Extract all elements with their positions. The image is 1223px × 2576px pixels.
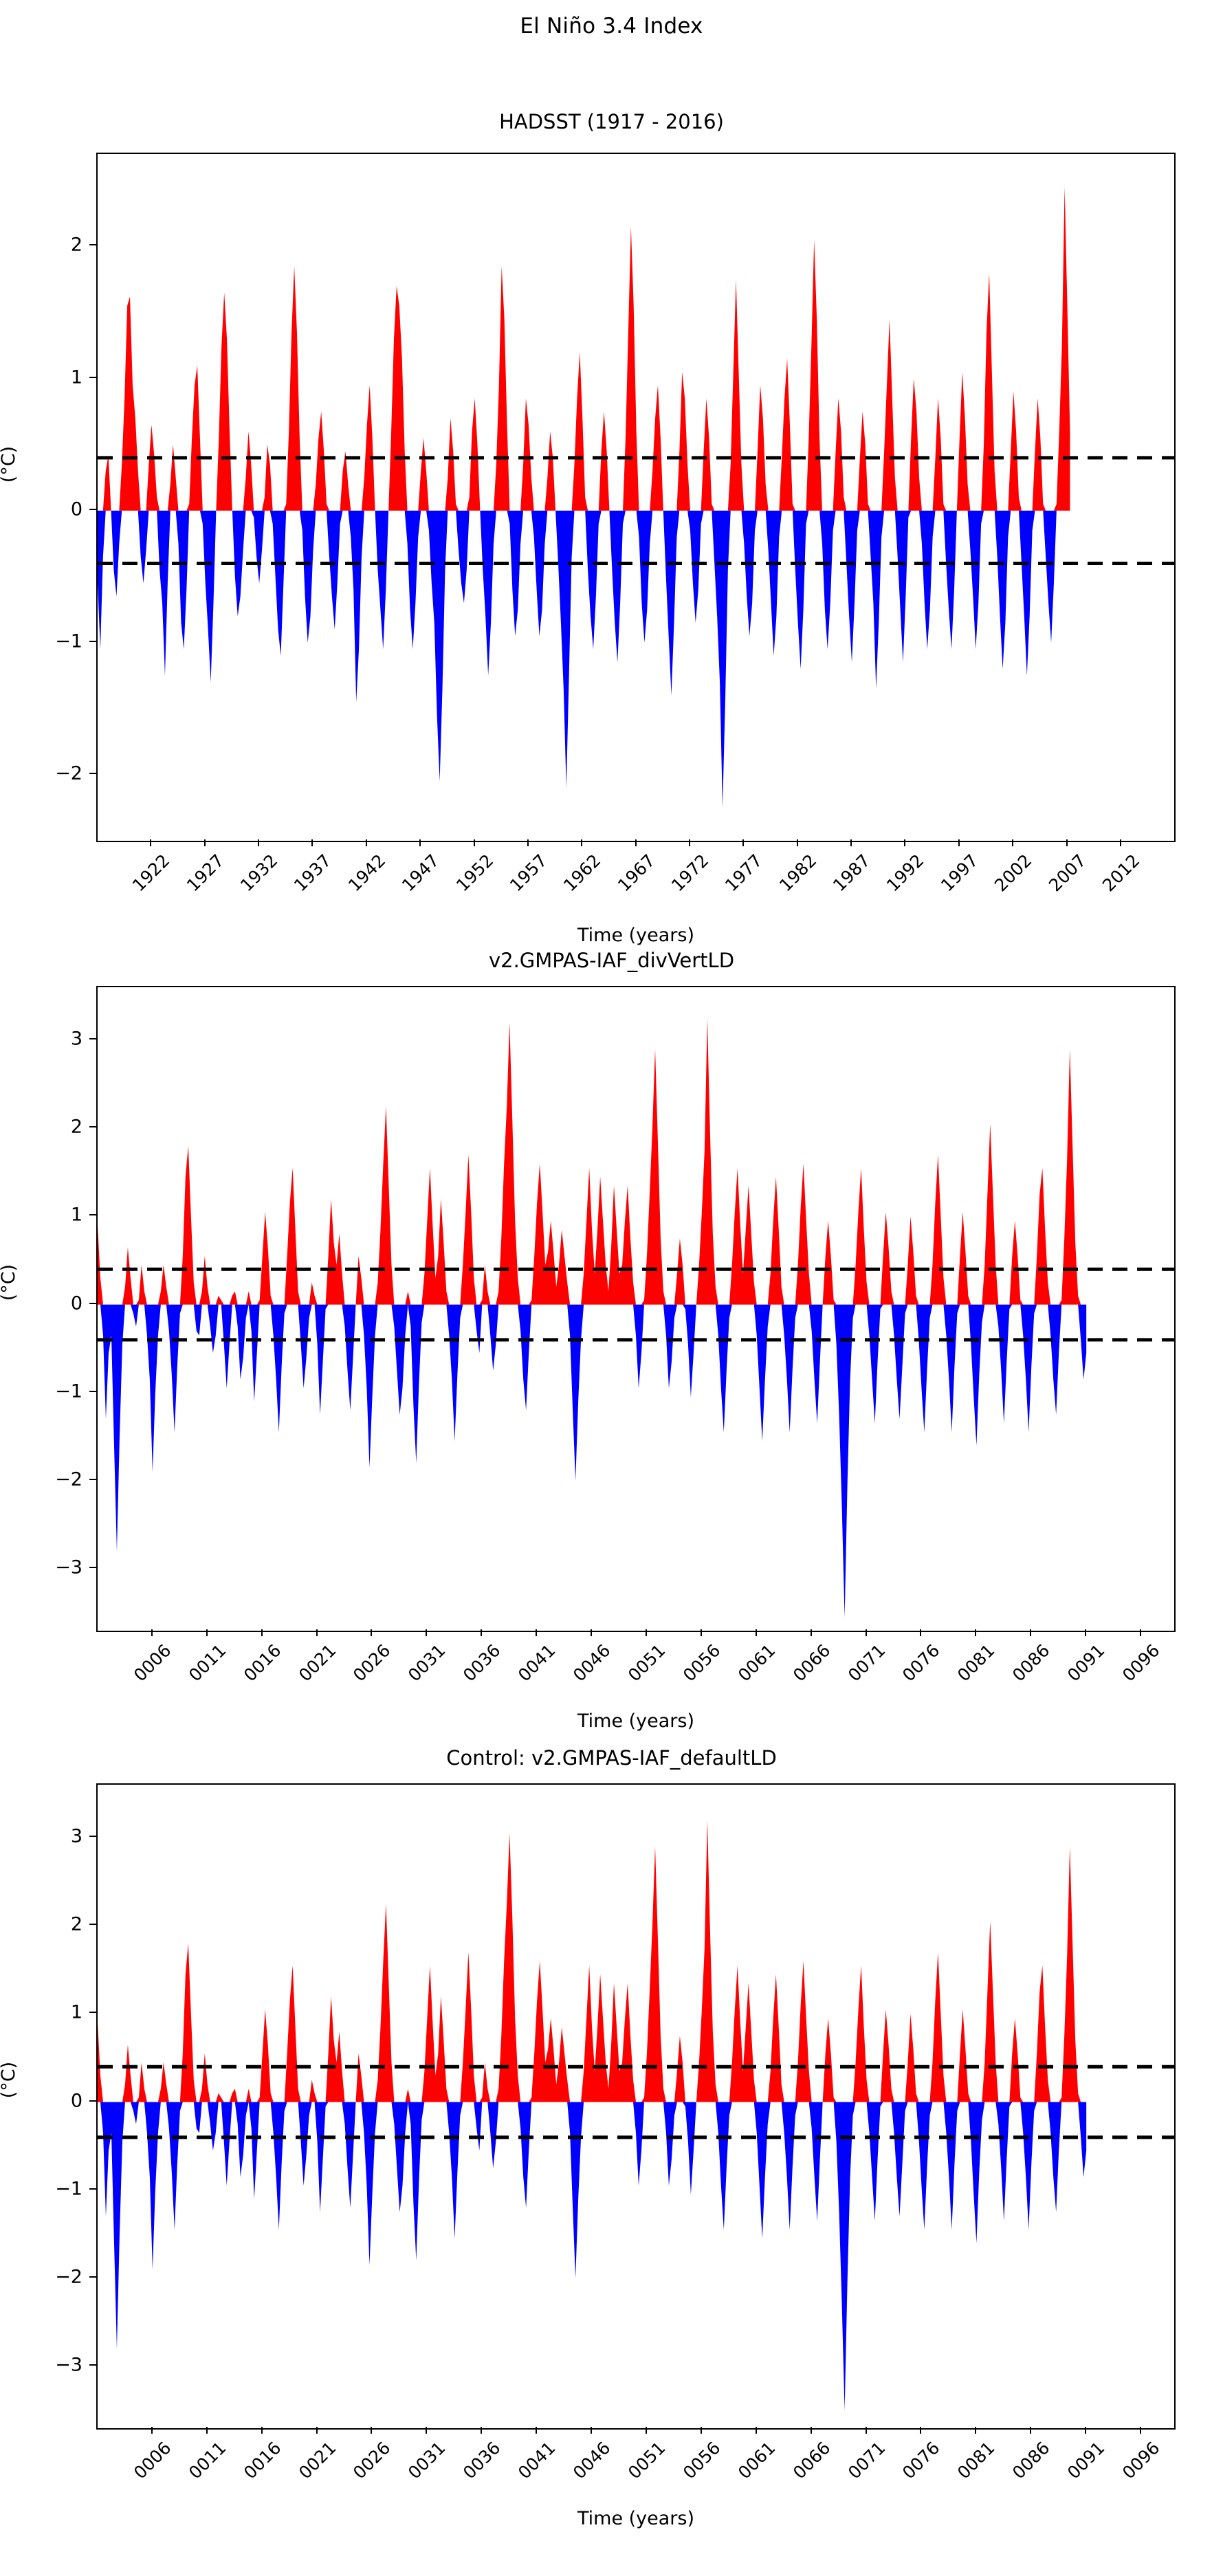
- x-tick-label: 0051: [624, 1640, 669, 1685]
- y-tick-label: 3: [21, 1028, 82, 1049]
- y-axis-label: (°C): [0, 1264, 19, 1301]
- y-tick-mark: [89, 2364, 96, 2366]
- x-tick-label: 1987: [829, 850, 874, 895]
- x-tick-mark: [1140, 1629, 1141, 1636]
- y-tick-label: 0: [21, 498, 82, 520]
- y-tick-label: −1: [21, 630, 82, 652]
- x-tick-label: 1982: [775, 850, 820, 895]
- x-tick-label: 1962: [560, 850, 604, 895]
- x-tick-label: 0081: [954, 1640, 998, 1685]
- x-axis-label: Time (years): [96, 925, 1176, 946]
- y-tick-mark: [89, 773, 96, 774]
- x-tick-label: 0011: [185, 1640, 230, 1685]
- x-tick-mark: [206, 2427, 208, 2434]
- x-tick-mark: [646, 1629, 647, 1636]
- x-tick-mark: [1030, 2427, 1031, 2434]
- chart-panel-hadsst: HADSST (1917 - 2016) (°C) Time (years) −…: [0, 110, 1223, 949]
- y-tick-label: −3: [21, 2355, 82, 2376]
- y-tick-mark: [89, 1303, 96, 1304]
- y-tick-mark: [89, 1038, 96, 1039]
- x-tick-label: 0086: [1009, 2438, 1053, 2483]
- x-tick-label: 0031: [404, 2438, 449, 2483]
- y-tick-mark: [89, 509, 96, 510]
- x-tick-label: 0021: [295, 1640, 340, 1685]
- x-tick-label: 0091: [1064, 2438, 1108, 2483]
- x-tick-mark: [975, 2427, 976, 2434]
- y-tick-mark: [89, 244, 96, 245]
- x-tick-label: 0036: [459, 2438, 504, 2483]
- x-tick-mark: [958, 839, 960, 846]
- x-tick-mark: [742, 839, 744, 846]
- y-tick-mark: [89, 1924, 96, 1925]
- x-tick-label: 0016: [240, 2438, 285, 2483]
- x-tick-label: 0076: [899, 2438, 943, 2483]
- y-axis-label: (°C): [0, 446, 19, 483]
- x-axis-label: Time (years): [96, 1710, 1176, 1732]
- x-tick-label: 0056: [679, 2438, 724, 2483]
- x-tick-label: 1927: [183, 850, 228, 895]
- x-tick-mark: [366, 839, 367, 846]
- x-tick-label: 0041: [514, 1640, 559, 1685]
- x-tick-label: 0076: [899, 1640, 943, 1685]
- x-tick-label: 0071: [844, 2438, 889, 2483]
- panel-title: HADSST (1917 - 2016): [0, 110, 1223, 133]
- x-tick-label: 0066: [789, 2438, 834, 2483]
- panel-title: Control: v2.GMPAS-IAF_defaultLD: [0, 1746, 1223, 1770]
- x-tick-mark: [701, 1629, 702, 1636]
- x-tick-mark: [866, 2427, 867, 2434]
- x-tick-mark: [850, 839, 852, 846]
- plot-area: [96, 986, 1176, 1632]
- x-tick-label: 1977: [721, 850, 766, 895]
- x-tick-mark: [797, 839, 798, 846]
- plot-area: [96, 1783, 1176, 2430]
- x-tick-label: 0096: [1119, 2438, 1163, 2483]
- x-tick-mark: [261, 2427, 263, 2434]
- x-tick-label: 0051: [624, 2438, 669, 2483]
- y-tick-label: 3: [21, 1825, 82, 1847]
- x-tick-mark: [151, 2427, 153, 2434]
- y-tick-label: −2: [21, 2267, 82, 2288]
- y-tick-label: 1: [21, 2002, 82, 2023]
- x-tick-label: 2012: [1099, 850, 1143, 895]
- x-tick-label: 1932: [236, 850, 281, 895]
- x-tick-mark: [1030, 1629, 1031, 1636]
- x-tick-mark: [481, 2427, 482, 2434]
- plot-area: [96, 153, 1176, 842]
- plot-svg: [98, 987, 1174, 1631]
- y-tick-label: 2: [21, 1914, 82, 1935]
- x-tick-mark: [481, 1629, 482, 1636]
- x-tick-mark: [811, 1629, 812, 1636]
- x-tick-label: 1947: [398, 850, 443, 895]
- y-tick-mark: [89, 1391, 96, 1392]
- y-tick-label: −1: [21, 1380, 82, 1402]
- y-tick-mark: [89, 2276, 96, 2278]
- x-tick-mark: [1012, 839, 1013, 846]
- x-tick-mark: [474, 839, 475, 846]
- y-tick-mark: [89, 641, 96, 642]
- x-tick-mark: [316, 2427, 318, 2434]
- x-tick-label: 0026: [349, 1640, 394, 1685]
- x-tick-mark: [536, 2427, 537, 2434]
- x-tick-mark: [151, 1629, 153, 1636]
- x-tick-mark: [689, 839, 690, 846]
- x-tick-label: 0056: [679, 1640, 724, 1685]
- x-tick-mark: [866, 1629, 867, 1636]
- x-tick-mark: [1085, 2427, 1086, 2434]
- x-tick-mark: [635, 839, 637, 846]
- x-tick-mark: [1120, 839, 1121, 846]
- y-tick-mark: [89, 377, 96, 378]
- x-tick-mark: [591, 1629, 592, 1636]
- y-tick-label: 1: [21, 366, 82, 388]
- x-tick-label: 0006: [130, 2438, 175, 2483]
- x-tick-mark: [920, 1629, 921, 1636]
- x-tick-label: 0046: [569, 1640, 614, 1685]
- x-tick-mark: [756, 2427, 757, 2434]
- x-tick-label: 0046: [569, 2438, 614, 2483]
- x-tick-mark: [150, 839, 151, 846]
- y-tick-mark: [89, 1836, 96, 1837]
- x-tick-label: 1957: [506, 850, 551, 895]
- x-tick-mark: [756, 1629, 757, 1636]
- x-tick-mark: [975, 1629, 976, 1636]
- chart-panel-defaultld: Control: v2.GMPAS-IAF_defaultLD (°C) Tim…: [0, 1746, 1223, 2571]
- y-tick-mark: [89, 2188, 96, 2190]
- x-tick-mark: [1066, 839, 1068, 846]
- x-tick-label: 1992: [883, 850, 927, 895]
- x-tick-label: 0021: [295, 2438, 340, 2483]
- y-tick-mark: [89, 2012, 96, 2013]
- y-tick-label: 2: [21, 1116, 82, 1138]
- x-tick-label: 0091: [1064, 1640, 1108, 1685]
- x-tick-mark: [1140, 2427, 1141, 2434]
- x-tick-label: 0061: [734, 2438, 779, 2483]
- x-tick-label: 1972: [668, 850, 712, 895]
- x-tick-mark: [204, 839, 206, 846]
- x-tick-label: 0026: [349, 2438, 394, 2483]
- x-tick-label: 1952: [452, 850, 497, 895]
- y-tick-mark: [89, 1567, 96, 1568]
- x-tick-mark: [811, 2427, 812, 2434]
- x-tick-mark: [904, 839, 905, 846]
- x-tick-mark: [311, 839, 313, 846]
- x-tick-label: 0096: [1119, 1640, 1163, 1685]
- x-tick-mark: [646, 2427, 647, 2434]
- x-tick-mark: [426, 2427, 427, 2434]
- y-tick-label: −2: [21, 762, 82, 784]
- x-tick-label: 1937: [290, 850, 335, 895]
- x-tick-label: 1997: [937, 850, 982, 895]
- y-tick-label: −2: [21, 1469, 82, 1490]
- x-tick-label: 0061: [734, 1640, 779, 1685]
- x-tick-label: 0011: [185, 2438, 230, 2483]
- y-tick-mark: [89, 1479, 96, 1480]
- y-tick-label: 1: [21, 1204, 82, 1226]
- y-tick-label: 0: [21, 1292, 82, 1314]
- plot-svg: [98, 1785, 1174, 2428]
- x-axis-label: Time (years): [96, 2508, 1176, 2529]
- x-tick-mark: [371, 1629, 372, 1636]
- x-tick-label: 0071: [844, 1640, 889, 1685]
- x-tick-label: 0066: [789, 1640, 834, 1685]
- x-tick-label: 2002: [991, 850, 1035, 895]
- x-tick-label: 1922: [129, 850, 173, 895]
- x-tick-label: 0016: [240, 1640, 285, 1685]
- x-tick-mark: [1085, 1629, 1086, 1636]
- plot-svg: [98, 154, 1174, 841]
- x-tick-mark: [426, 1629, 427, 1636]
- x-tick-label: 2007: [1045, 850, 1090, 895]
- x-tick-label: 1942: [344, 850, 389, 895]
- x-tick-mark: [581, 839, 582, 846]
- x-tick-mark: [261, 1629, 263, 1636]
- x-tick-mark: [316, 1629, 318, 1636]
- x-tick-mark: [258, 839, 259, 846]
- x-tick-label: 0031: [404, 1640, 449, 1685]
- x-tick-mark: [419, 839, 421, 846]
- x-tick-label: 0036: [459, 1640, 504, 1685]
- figure-suptitle: El Niño 3.4 Index: [0, 14, 1223, 38]
- x-tick-mark: [206, 1629, 208, 1636]
- x-tick-mark: [371, 2427, 372, 2434]
- x-tick-mark: [920, 2427, 921, 2434]
- panel-title: v2.GMPAS-IAF_divVertLD: [0, 949, 1223, 972]
- y-tick-mark: [89, 1214, 96, 1215]
- y-tick-mark: [89, 2100, 96, 2102]
- chart-panel-divvertld: v2.GMPAS-IAF_divVertLD (°C) Time (years)…: [0, 949, 1223, 1746]
- y-tick-label: 2: [21, 234, 82, 256]
- y-tick-label: 0: [21, 2090, 82, 2111]
- x-tick-label: 0086: [1009, 1640, 1053, 1685]
- x-tick-mark: [701, 2427, 702, 2434]
- x-tick-mark: [536, 1629, 537, 1636]
- y-tick-mark: [89, 1126, 96, 1127]
- x-tick-label: 1967: [614, 850, 659, 895]
- y-tick-label: −1: [21, 2178, 82, 2199]
- x-tick-label: 0006: [130, 1640, 175, 1685]
- y-tick-label: −3: [21, 1557, 82, 1578]
- x-tick-mark: [591, 2427, 592, 2434]
- x-tick-label: 0081: [954, 2438, 998, 2483]
- x-tick-mark: [527, 839, 529, 846]
- y-axis-label: (°C): [0, 2062, 19, 2098]
- x-tick-label: 0041: [514, 2438, 559, 2483]
